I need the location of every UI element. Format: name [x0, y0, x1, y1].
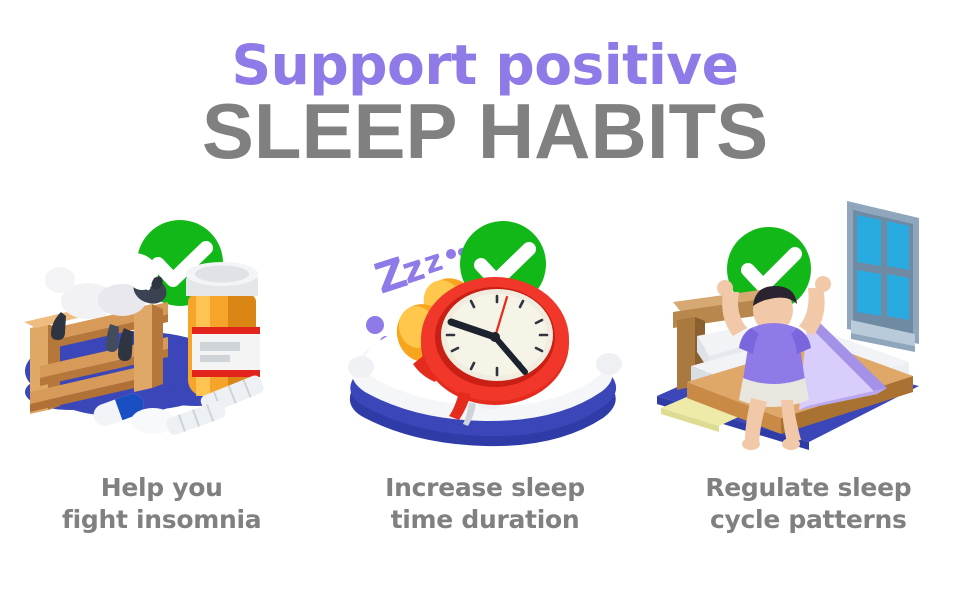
- sleep-habits-infographic: Support positive SLEEP HABITS: [0, 0, 970, 600]
- caption-line-2: cycle patterns: [647, 504, 970, 536]
- illustration-sheep-jumping-fence: [0, 196, 323, 468]
- benefit-column-regulate-sleep-cycle: Regulate sleep cycle patterns: [647, 196, 970, 556]
- caption-line-2: time duration: [323, 504, 646, 536]
- caption-line-1: Help you: [0, 472, 323, 504]
- window: [847, 201, 919, 352]
- pill-bottle: [186, 262, 260, 396]
- illustration-person-waking-up: [647, 196, 970, 468]
- benefit-column-increase-sleep-time: Z z z: [323, 196, 646, 556]
- caption-line-1: Regulate sleep: [647, 472, 970, 504]
- caption-fight-insomnia: Help you fight insomnia: [0, 472, 323, 536]
- benefit-column-fight-insomnia: Help you fight insomnia: [0, 196, 323, 556]
- caption-line-2: fight insomnia: [0, 504, 323, 536]
- page-title: Support positive SLEEP HABITS: [0, 34, 970, 170]
- title-line-2: SLEEP HABITS: [0, 92, 970, 170]
- illustration-alarm-clock-on-pillow: Z z z: [323, 196, 646, 468]
- benefit-columns: Help you fight insomnia Z z z: [0, 196, 970, 556]
- caption-line-1: Increase sleep: [323, 472, 646, 504]
- caption-increase-sleep-time: Increase sleep time duration: [323, 472, 646, 536]
- caption-regulate-sleep-cycle: Regulate sleep cycle patterns: [647, 472, 970, 536]
